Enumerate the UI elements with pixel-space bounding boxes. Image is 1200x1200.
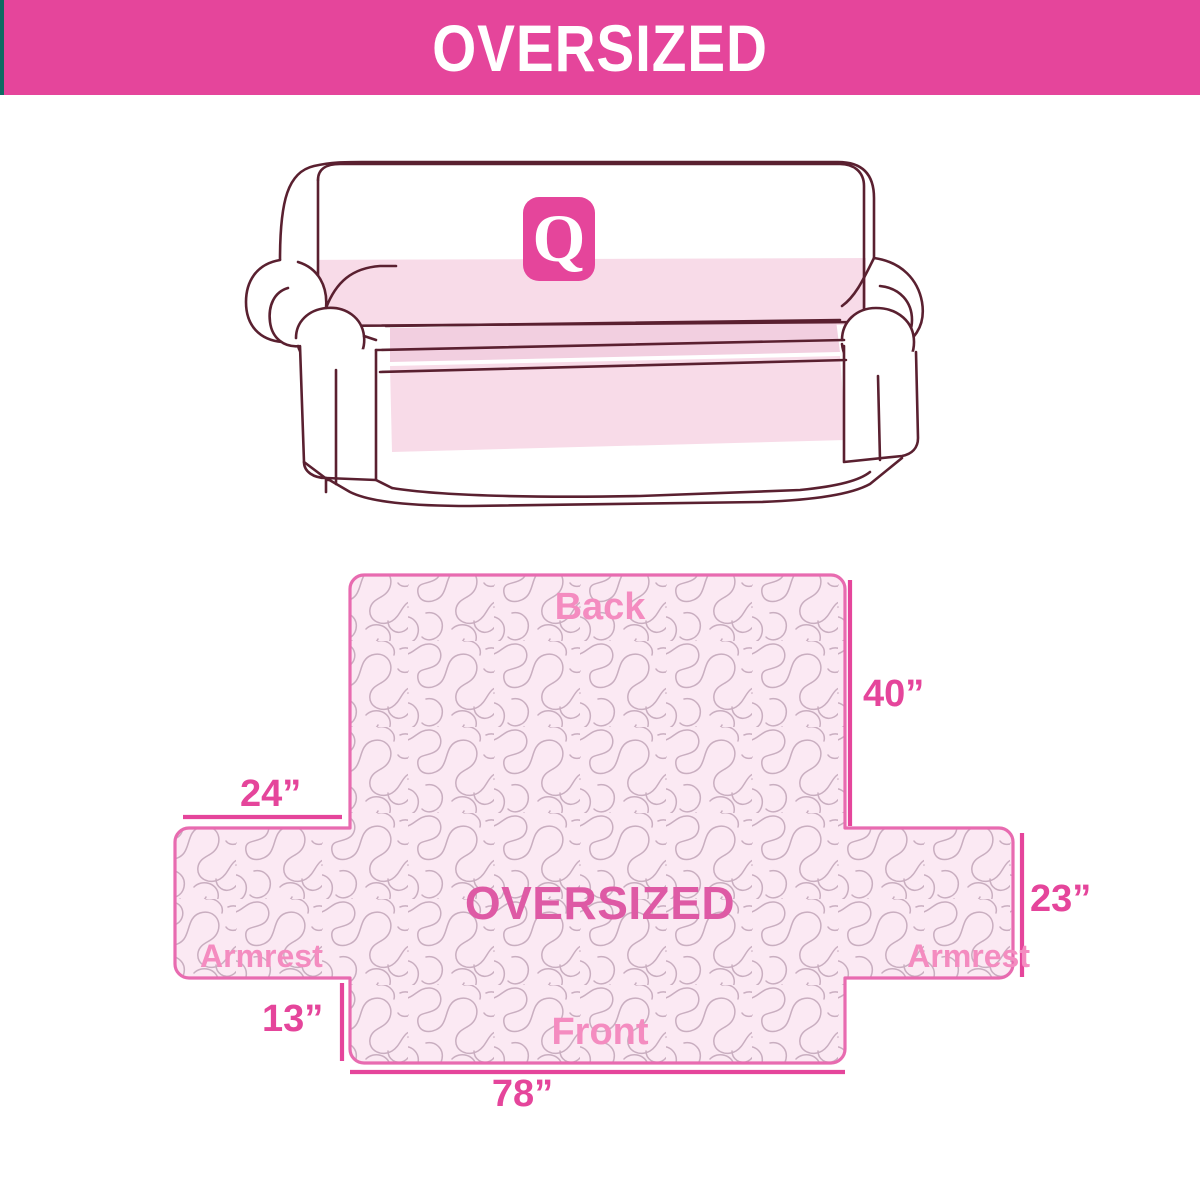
banner-left-edge-strip — [0, 0, 4, 95]
infographic-canvas: OVERSIZED — [0, 0, 1200, 1200]
dimension-label-back-height: 40” — [863, 675, 924, 713]
brand-logo-badge: Q — [523, 197, 595, 281]
page-title: OVERSIZED — [84, 0, 1116, 95]
header-banner: OVERSIZED — [0, 0, 1200, 95]
panel-label-armrest-right: Armrest — [907, 940, 1030, 972]
flat-layout-center-label: OVERSIZED — [150, 880, 1050, 926]
panel-label-armrest-left: Armrest — [200, 940, 323, 972]
dimension-label-front-height: 13” — [262, 1000, 323, 1038]
dimension-label-armrest-width: 24” — [240, 775, 301, 813]
sofa-line-drawing-icon — [240, 140, 980, 520]
flat-layout-diagram: Back Armrest Armrest Front OVERSIZED 40”… — [150, 555, 1050, 1115]
dimension-label-armrest-height: 23” — [1030, 880, 1091, 918]
dimension-label-total-width: 78” — [150, 1075, 895, 1113]
sofa-illustration: Q — [240, 140, 980, 520]
brand-logo-letter: Q — [533, 204, 586, 272]
panel-label-back: Back — [150, 588, 1050, 626]
